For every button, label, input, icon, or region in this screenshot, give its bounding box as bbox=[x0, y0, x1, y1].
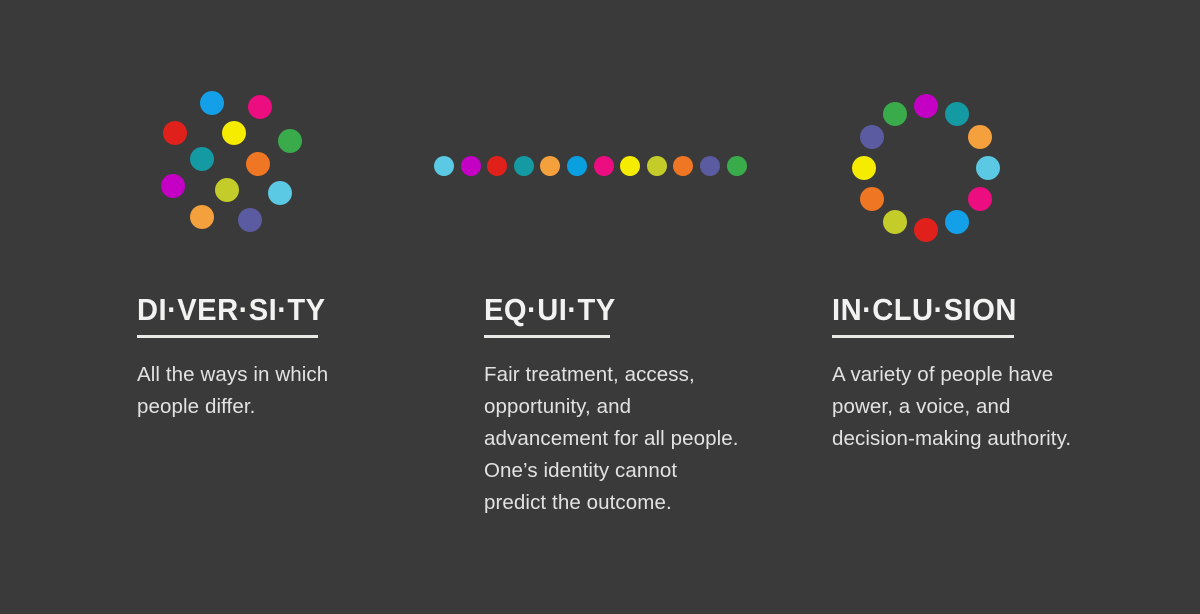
dot-11 bbox=[238, 208, 262, 232]
dot-11 bbox=[883, 102, 907, 126]
dot-8 bbox=[647, 156, 667, 176]
dot-0 bbox=[914, 94, 938, 118]
dot-2 bbox=[487, 156, 507, 176]
dot-10 bbox=[700, 156, 720, 176]
term-underline-inclusion bbox=[832, 335, 1014, 338]
column-diversity: DI·VER·SI·TY All the ways in which peopl… bbox=[137, 294, 397, 423]
dot-9 bbox=[268, 181, 292, 205]
term-description-inclusion: A variety of people have power, a voice,… bbox=[832, 359, 1072, 455]
dot-8 bbox=[860, 187, 884, 211]
dot-8 bbox=[215, 178, 239, 202]
dot-4 bbox=[540, 156, 560, 176]
term-underline-diversity bbox=[137, 335, 318, 338]
equity-row-dots-graphic bbox=[425, 145, 745, 187]
dot-2 bbox=[968, 125, 992, 149]
term-heading-inclusion: IN·CLU·SION bbox=[832, 294, 1076, 325]
term-description-equity: Fair treatment, access, opportunity, and… bbox=[484, 359, 742, 519]
dot-3 bbox=[514, 156, 534, 176]
dot-7 bbox=[620, 156, 640, 176]
term-heading-diversity: DI·VER·SI·TY bbox=[137, 294, 381, 325]
dot-5 bbox=[190, 147, 214, 171]
dot-1 bbox=[945, 102, 969, 126]
dot-9 bbox=[673, 156, 693, 176]
dei-infographic: DI·VER·SI·TY All the ways in which peopl… bbox=[0, 0, 1200, 614]
term-heading-equity: EQ·UI·TY bbox=[484, 294, 738, 325]
dot-1 bbox=[461, 156, 481, 176]
dot-7 bbox=[883, 210, 907, 234]
dot-6 bbox=[246, 152, 270, 176]
dot-4 bbox=[278, 129, 302, 153]
inclusion-ring-dots-graphic bbox=[840, 80, 1020, 260]
diversity-scatter-dots-graphic bbox=[130, 75, 360, 265]
dot-3 bbox=[222, 121, 246, 145]
dot-1 bbox=[248, 95, 272, 119]
dot-10 bbox=[860, 125, 884, 149]
dot-3 bbox=[976, 156, 1000, 180]
dot-4 bbox=[968, 187, 992, 211]
dot-11 bbox=[727, 156, 747, 176]
dot-0 bbox=[434, 156, 454, 176]
term-underline-equity bbox=[484, 335, 610, 338]
dot-7 bbox=[161, 174, 185, 198]
dot-0 bbox=[200, 91, 224, 115]
dot-5 bbox=[567, 156, 587, 176]
dot-5 bbox=[945, 210, 969, 234]
column-equity: EQ·UI·TY Fair treatment, access, opportu… bbox=[484, 294, 754, 519]
dot-6 bbox=[594, 156, 614, 176]
term-description-diversity: All the ways in which people differ. bbox=[137, 359, 377, 423]
column-inclusion: IN·CLU·SION A variety of people have pow… bbox=[832, 294, 1092, 455]
dot-10 bbox=[190, 205, 214, 229]
dot-6 bbox=[914, 218, 938, 242]
dot-2 bbox=[163, 121, 187, 145]
dot-9 bbox=[852, 156, 876, 180]
